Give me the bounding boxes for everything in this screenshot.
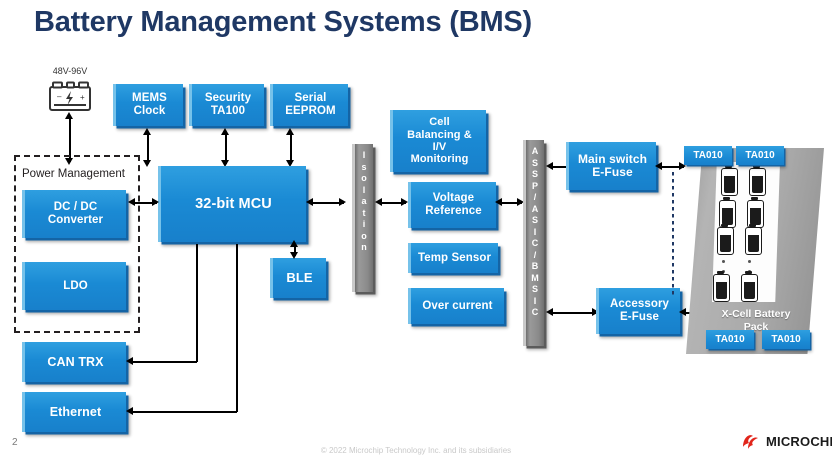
block-label: 32-bit MCU [193,196,274,212]
assp-letter: / [534,192,537,204]
arrow-left-power [128,198,135,206]
pack-cell-area [712,162,780,302]
svg-text:–: – [57,92,62,101]
battery-icon: – + [48,80,92,112]
isolation-letter: I [363,150,366,162]
block-dc-dc-converter[interactable]: DC / DCConverter [22,190,126,238]
connector-assp-accessory [551,312,597,314]
arrow-left-main-pack [655,162,662,170]
block-security-ta100[interactable]: SecurityTA100 [189,84,264,126]
tag-ta010-top-right[interactable]: TA010 [736,146,784,165]
isolation-letter: n [361,242,367,254]
assp-letter: P [532,181,538,193]
block-label: SecurityTA100 [203,92,253,118]
arrow-right-isolation [339,198,346,206]
arrow-up-security [221,128,229,135]
cell-row [713,274,758,302]
arrow-left-assp-main [546,162,553,170]
source-voltage-label: 48V-96V [40,66,100,76]
block-label: SerialEEPROM [283,92,337,118]
slide-canvas: Battery Management Systems (BMS) 48V-96V… [0,0,832,465]
assp-letter: S [532,158,538,170]
isolation-letter: o [361,173,367,185]
block-ethernet[interactable]: Ethernet [22,392,126,432]
cell-row [721,168,766,196]
wireless-dotted-link [672,172,674,296]
block-ldo[interactable]: LDO [22,262,126,310]
arrow-up-eeprom [286,128,294,135]
battery-cell-icon [741,274,758,302]
block-serial-eeprom[interactable]: SerialEEPROM [270,84,348,126]
page-title: Battery Management Systems (BMS) [34,6,532,39]
arrow-right-mcu [152,198,159,206]
bar-assp-asic-bmsic[interactable]: A S S P / A S I C / B M S I C [523,140,544,346]
isolation-letter: o [361,231,367,243]
block-label: DC / DCConverter [46,201,105,227]
power-management-label: Power Management [22,168,125,180]
bar-isolation[interactable]: I s o l a t i o n [352,144,373,292]
arrow-down-mems [143,160,151,167]
block-label: CAN TRX [45,355,105,369]
block-label: VoltageReference [423,192,484,218]
assp-letter: C [532,307,539,319]
block-label: Main switchE-Fuse [576,153,649,180]
block-over-current[interactable]: Over current [408,288,504,324]
block-label: Temp Sensor [416,252,493,265]
battery-cell-icon [717,227,734,255]
assp-letter: B [532,261,539,273]
battery-cell-icon [745,227,762,255]
assp-letter: C [532,238,539,250]
arrow-right-afe [401,198,408,206]
block-label: CellBalancing &I/VMonitoring [405,116,474,165]
arrow-left-acc-pack [679,308,686,316]
microchip-logo-text: MICROCHIP [766,434,832,449]
assp-letter: A [532,204,539,216]
assp-letter: S [532,284,538,296]
arrow-left-can [126,357,133,365]
block-label: BLE [284,271,314,286]
tag-ta010-bottom-left[interactable]: TA010 [706,330,754,349]
isolation-letter: l [363,185,366,197]
battery-cell-icon [749,168,766,196]
arrow-up-mcu-ble [290,240,298,247]
arrow-up-mems [143,128,151,135]
block-cell-balancing[interactable]: CellBalancing &I/VMonitoring [390,110,486,172]
arrow-left-ethernet [126,407,133,415]
assp-letter: I [534,227,537,239]
arrow-left-isolation-afe [375,198,382,206]
block-label: Ethernet [48,405,104,419]
assp-letter: S [532,169,538,181]
svg-text:+: + [80,93,85,102]
block-temp-sensor[interactable]: Temp Sensor [408,243,498,273]
block-label: Over current [420,300,494,313]
battery-cell-icon [721,168,738,196]
battery-pack[interactable]: X-Cell BatteryPack [686,148,824,354]
isolation-letter: s [361,162,366,174]
connector-mcu-eth-v [236,244,238,412]
connector-mcu-can-h [131,361,197,363]
block-can-trx[interactable]: CAN TRX [22,342,126,382]
assp-letter: A [532,146,539,158]
tag-ta010-bottom-right[interactable]: TA010 [762,330,810,349]
microchip-logo: MICROCHIP [740,430,832,452]
isolation-letter: i [363,219,366,231]
assp-letter: / [534,250,537,262]
connector-mcu-can-v [196,244,198,362]
assp-letter: M [531,273,539,285]
connector-mcu-eth-h [131,411,237,413]
arrow-left-afe-assp [495,198,502,206]
arrow-left-assp-acc [546,308,553,316]
block-ble[interactable]: BLE [270,258,326,298]
block-main-switch-efuse[interactable]: Main switchE-Fuse [566,142,656,190]
tag-ta010-top-left[interactable]: TA010 [684,146,732,165]
block-32bit-mcu[interactable]: 32-bit MCU [158,166,306,242]
cell-row [717,227,762,255]
isolation-letter: t [363,208,366,220]
block-label: LDO [61,280,90,293]
assp-letter: S [532,215,538,227]
block-label: MEMSClock [130,92,169,118]
block-mems-clock[interactable]: MEMSClock [113,84,183,126]
isolation-letter: a [361,196,366,208]
copyright-text: © 2022 Microchip Technology Inc. and its… [0,446,832,455]
arrow-down-ble [290,252,298,259]
arrow-up-source [65,112,73,119]
microchip-mark-icon [740,430,762,452]
block-label: AccessoryE-Fuse [608,298,671,324]
block-voltage-reference[interactable]: VoltageReference [408,182,496,228]
battery-cell-icon [713,274,730,302]
arrow-left-mcu [306,198,313,206]
assp-letter: I [534,296,537,308]
block-accessory-efuse[interactable]: AccessoryE-Fuse [596,288,680,334]
